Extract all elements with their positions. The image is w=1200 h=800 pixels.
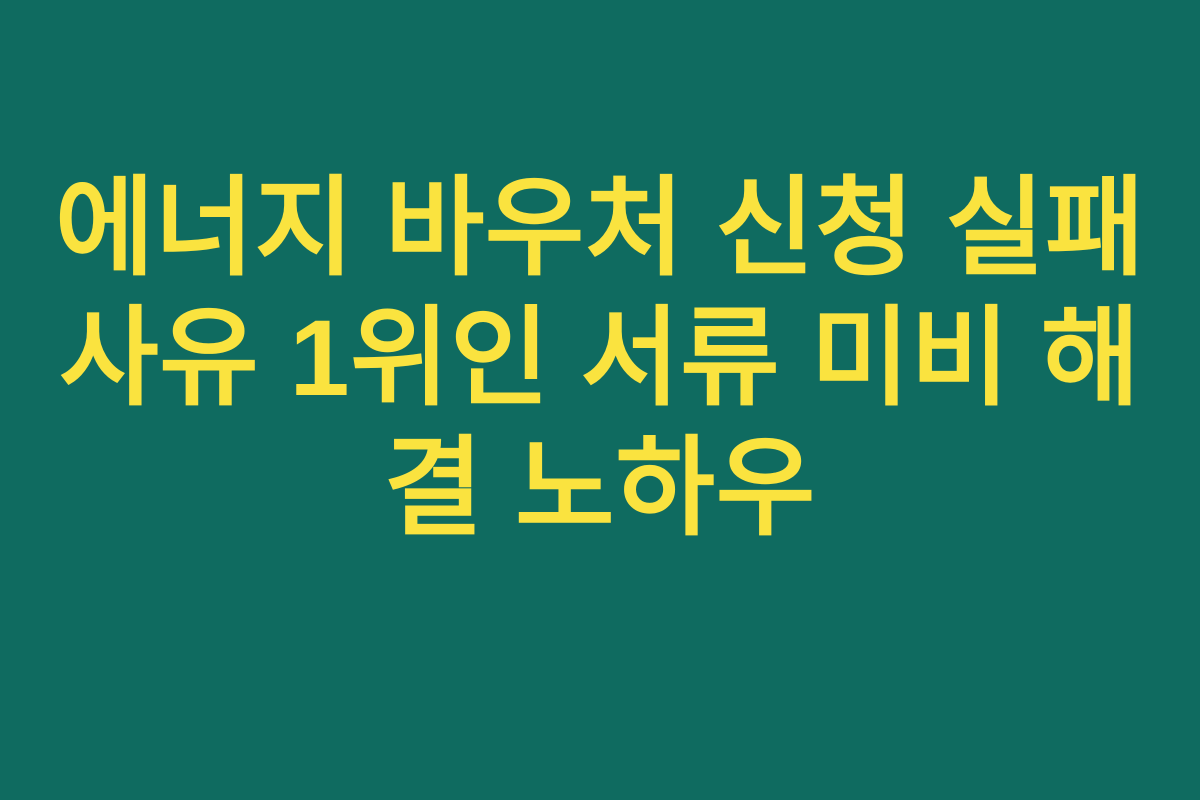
headline-line-2: 사유 1위인 서류 미비 해	[40, 293, 1160, 423]
headline-line-1: 에너지 바우처 신청 실패	[40, 163, 1160, 293]
poster-canvas: 에너지 바우처 신청 실패 사유 1위인 서류 미비 해 결 노하우	[0, 0, 1200, 800]
headline-block: 에너지 바우처 신청 실패 사유 1위인 서류 미비 해 결 노하우	[0, 163, 1200, 553]
headline-line-3: 결 노하우	[40, 423, 1160, 553]
